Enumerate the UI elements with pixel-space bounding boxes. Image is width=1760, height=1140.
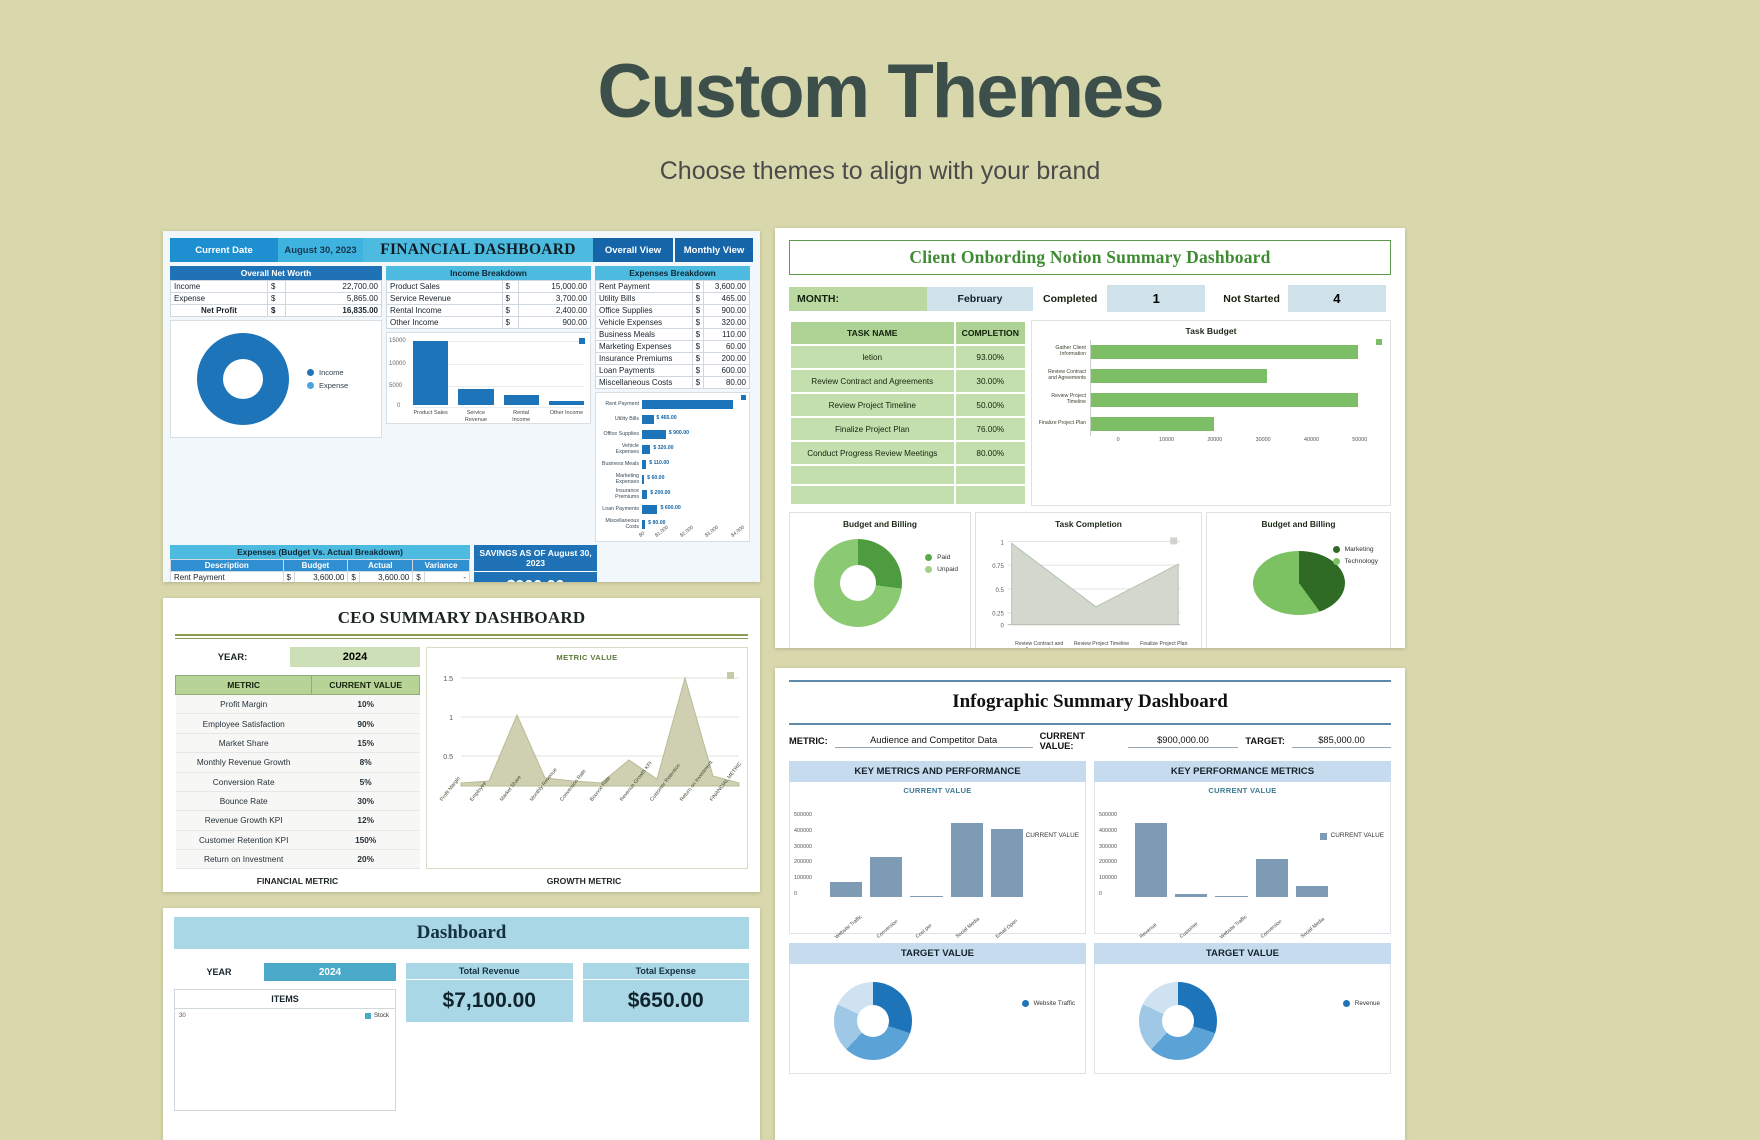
net-worth-header: Overall Net Worth [170,266,382,280]
target-value[interactable]: $85,000.00 [1292,735,1391,748]
total-expense-value: $650.00 [583,979,750,1022]
key-performance-bar-chart: CURRENT VALUE 500000 400000 300000 20000… [1094,782,1391,934]
dashboard-items-header: ITEMS [175,990,395,1009]
net-worth-donut-chart: Income Expense [170,320,382,438]
table-row: Monthly Revenue Growth8% [176,753,420,772]
hero-title: Custom Themes [0,0,1760,135]
svg-text:0.5: 0.5 [443,754,453,761]
target-legend-left: Website Traffic [1022,996,1075,1011]
budget-actual-header: Expenses (Budget Vs. Actual Breakdown) [170,545,470,559]
target-legend-right: Revenue [1343,996,1380,1011]
budget-billing-legend: Paid Unpaid [925,549,958,578]
ceo-title: CEO SUMMARY DASHBOARD [175,608,748,628]
current-value[interactable]: $900,000.00 [1128,735,1239,748]
current-value-label: CURRENT VALUE: [1040,731,1121,751]
table-row: letion93.00% [791,346,1025,368]
dashboard-title: Dashboard [174,917,749,949]
current-value-legend: CURRENT VALUE [1320,832,1384,840]
ceo-year-label: YEAR: [175,652,290,663]
expenses-breakdown-header: Expenses Breakdown [595,266,750,280]
total-expense-kpi: Total Expense $650.00 [583,963,750,1111]
total-revenue-label: Total Revenue [406,963,573,979]
target-value-donut-left [834,982,912,1060]
income-bar-chart: 15000 10000 5000 0 Product Sales Service… [386,332,591,424]
financial-title: FINANCIAL DASHBOARD [363,238,593,262]
task-completion-svg: 1 0.75 0.5 0.25 0 [982,529,1195,637]
table-row [791,486,1025,504]
svg-text:0: 0 [1000,624,1004,630]
completed-value: 1 [1107,285,1205,312]
svg-text:1: 1 [1000,540,1004,546]
total-revenue-kpi: Total Revenue $7,100.00 [406,963,573,1111]
table-row: Finalize Project Plan76.00% [791,418,1025,440]
unpaid-dot [925,566,932,573]
task-completion-chart-card: Task Completion 1 0.75 0.5 0.25 0 Review… [975,512,1202,648]
task-table: TASK NAMECOMPLETION letion93.00% Review … [789,320,1027,506]
legend-income-dot [307,369,314,376]
savings-value: $900.00 [474,571,597,582]
svg-text:0.5: 0.5 [996,588,1005,594]
budget-billing-donut [814,539,902,627]
income-breakdown-table: Product Sales$15,000.00 Service Revenue$… [386,280,591,329]
month-value[interactable]: February [927,287,1033,311]
ceo-col-metric: METRIC [176,676,312,695]
table-row [791,466,1025,484]
overall-view-button[interactable]: Overall View [593,238,673,262]
target-value-panel-right: TARGET VALUE Revenue [1094,943,1391,1074]
current-value-legend: CURRENT VALUE [1015,832,1079,840]
not-started-label: Not Started [1205,293,1288,305]
svg-text:0.25: 0.25 [992,612,1004,618]
legend-swatch [1015,833,1022,840]
total-expense-label: Total Expense [583,963,750,979]
table-row: Review Project Timeline50.00% [791,394,1025,416]
metric-label: METRIC: [789,736,828,746]
onboarding-title: Client Onbording Notion Summary Dashboar… [789,240,1391,275]
infographic-card[interactable]: Infographic Summary Dashboard METRIC: Au… [775,668,1405,1140]
budget-billing-donut-card: Budget and Billing Paid Unpaid [789,512,971,648]
col-completion: COMPLETION [956,322,1025,344]
infographic-title: Infographic Summary Dashboard [789,682,1391,723]
budget-billing-pie [1253,551,1345,615]
table-row: Employee Satisfaction90% [176,714,420,733]
table-row: Revenue Growth KPI12% [176,811,420,830]
month-label: MONTH: [789,287,927,311]
svg-text:1: 1 [449,715,453,722]
stock-legend-swatch [365,1013,371,1019]
paid-dot [925,554,932,561]
current-date-value: August 30, 2023 [278,238,363,262]
technology-dot [1333,558,1340,565]
website-traffic-dot [1022,1000,1029,1007]
ceo-footer-left: FINANCIAL METRIC [175,876,420,886]
dashboard-card[interactable]: Dashboard YEAR 2024 ITEMS 30 Stock Total… [163,908,760,1140]
metric-value[interactable]: Audience and Competitor Data [835,735,1033,748]
table-row: Review Contract and Agreements30.00% [791,370,1025,392]
table-row: Return on Investment20% [176,850,420,869]
hero-subtitle: Choose themes to align with your brand [0,157,1760,186]
dashboard-year-value[interactable]: 2024 [264,963,396,981]
budget-billing-pie-card: Budget and Billing Marketing Technology [1206,512,1391,648]
ceo-col-value: CURRENT VALUE [312,676,420,695]
total-revenue-value: $7,100.00 [406,979,573,1022]
not-started-value: 4 [1288,285,1386,312]
target-label: TARGET: [1245,736,1285,746]
key-metrics-panel: KEY METRICS AND PERFORMANCE CURRENT VALU… [789,761,1086,934]
current-date-label: Current Date [170,238,278,262]
task-budget-legend-swatch [1376,339,1382,345]
financial-topbar: Current Date August 30, 2023 FINANCIAL D… [170,238,753,262]
ceo-chart-title: METRIC VALUE [427,648,747,662]
ceo-summary-card[interactable]: CEO SUMMARY DASHBOARD YEAR: 2024 METRICC… [163,598,760,892]
revenue-dot [1343,1000,1350,1007]
budget-billing-pie-legend: Marketing Technology [1333,541,1378,570]
target-value-panel-left: TARGET VALUE Website Traffic [789,943,1086,1074]
ceo-year-value[interactable]: 2024 [290,647,420,667]
client-onboarding-card[interactable]: Client Onbording Notion Summary Dashboar… [775,228,1405,648]
legend-swatch [1320,833,1327,840]
income-breakdown-header: Income Breakdown [386,266,591,280]
ceo-metrics-table: METRICCURRENT VALUE Profit Margin10% Emp… [175,675,420,869]
monthly-view-button[interactable]: Monthly View [673,238,753,262]
svg-text:0.75: 0.75 [992,564,1004,570]
financial-dashboard-card[interactable]: Current Date August 30, 2023 FINANCIAL D… [163,231,760,582]
ceo-area-chart: METRIC VALUE 1.5 1 0.5 Profit Margin Emp… [426,647,748,869]
ceo-footer-right: GROWTH METRIC [420,876,748,886]
key-performance-panel: KEY PERFORMANCE METRICS CURRENT VALUE 50… [1094,761,1391,934]
legend-expense-dot [307,382,314,389]
expenses-hbar-chart: Rent Payment Utility Bills$ 465.00 Offic… [595,392,750,542]
table-row: Conversion Rate5% [176,772,420,791]
table-row: Profit Margin10% [176,695,420,714]
dashboard-year-label: YEAR [174,967,264,977]
table-row: Market Share15% [176,733,420,752]
dashboard-items-chart: ITEMS 30 Stock [174,989,396,1111]
table-row: Bounce Rate30% [176,791,420,810]
donut-legend: Income Expense [307,364,348,394]
ceo-chart-xlabels: Profit Margin Employee Market Share Mont… [427,797,747,857]
table-row: Conduct Progress Review Meetings80.00% [791,442,1025,464]
col-task-name: TASK NAME [791,322,954,344]
key-metrics-bar-chart: CURRENT VALUE 500000 400000 300000 20000… [789,782,1086,934]
table-row: Customer Retention KPI150% [176,830,420,849]
net-worth-table: Income$22,700.00 Expense$5,865.00 Net Pr… [170,280,382,317]
budget-actual-table: Description Budget Actual Variance Rent … [170,559,470,582]
target-value-donut-right [1139,982,1217,1060]
expenses-breakdown-table: Rent Payment$3,600.00 Utility Bills$465.… [595,280,750,389]
completed-label: Completed [1033,293,1107,305]
svg-text:1.5: 1.5 [443,676,453,683]
donut-shape [197,333,289,425]
task-budget-chart: Task Budget Gather Client Information Re… [1031,320,1391,506]
marketing-dot [1333,546,1340,553]
savings-header: SAVINGS AS OF August 30, 2023 [474,545,597,571]
